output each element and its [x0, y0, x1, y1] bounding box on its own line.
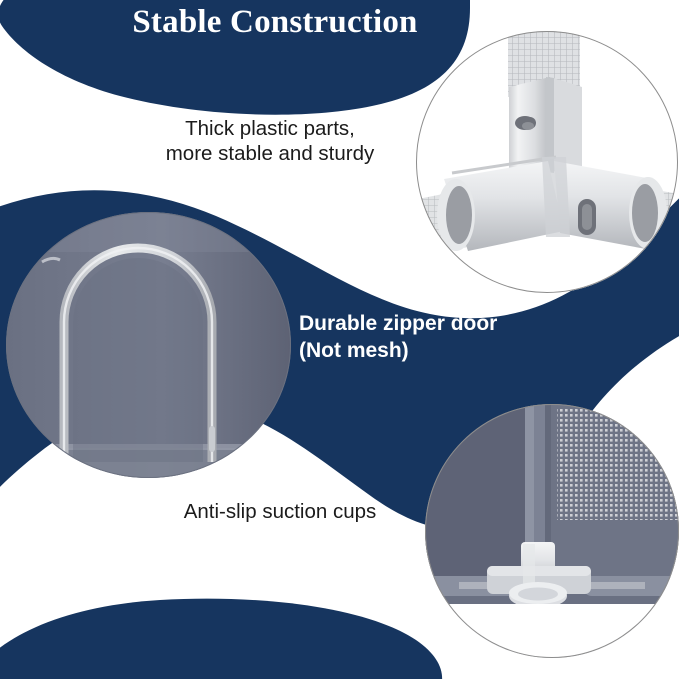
caption-thick-plastic: Thick plastic parts, more stable and stu… — [120, 116, 420, 166]
suction-cup-photo — [425, 404, 679, 658]
page-title: Stable Construction — [110, 2, 440, 42]
corner-connector-photo — [416, 31, 678, 293]
zipper-pull — [209, 426, 215, 452]
infographic-page: Stable Construction — [0, 0, 679, 679]
caption-line-1: Anti-slip suction cups — [130, 499, 430, 524]
corner-connector-illustration — [416, 31, 678, 293]
zipper-door-photo — [6, 212, 291, 478]
suction-cup-illustration — [425, 404, 679, 658]
caption-line-2: more stable and sturdy — [120, 141, 420, 166]
bottom-blob-shape — [0, 599, 442, 679]
caption-line-1: Durable zipper door — [299, 310, 579, 337]
connector-corner-joint — [542, 157, 570, 237]
caption-line-1: Thick plastic parts, — [120, 116, 420, 141]
caption-zipper-door: Durable zipper door (Not mesh) — [299, 310, 579, 364]
caption-suction-cups: Anti-slip suction cups — [130, 499, 430, 524]
caption-line-2: (Not mesh) — [299, 337, 579, 364]
zipper-door-illustration — [6, 212, 291, 478]
